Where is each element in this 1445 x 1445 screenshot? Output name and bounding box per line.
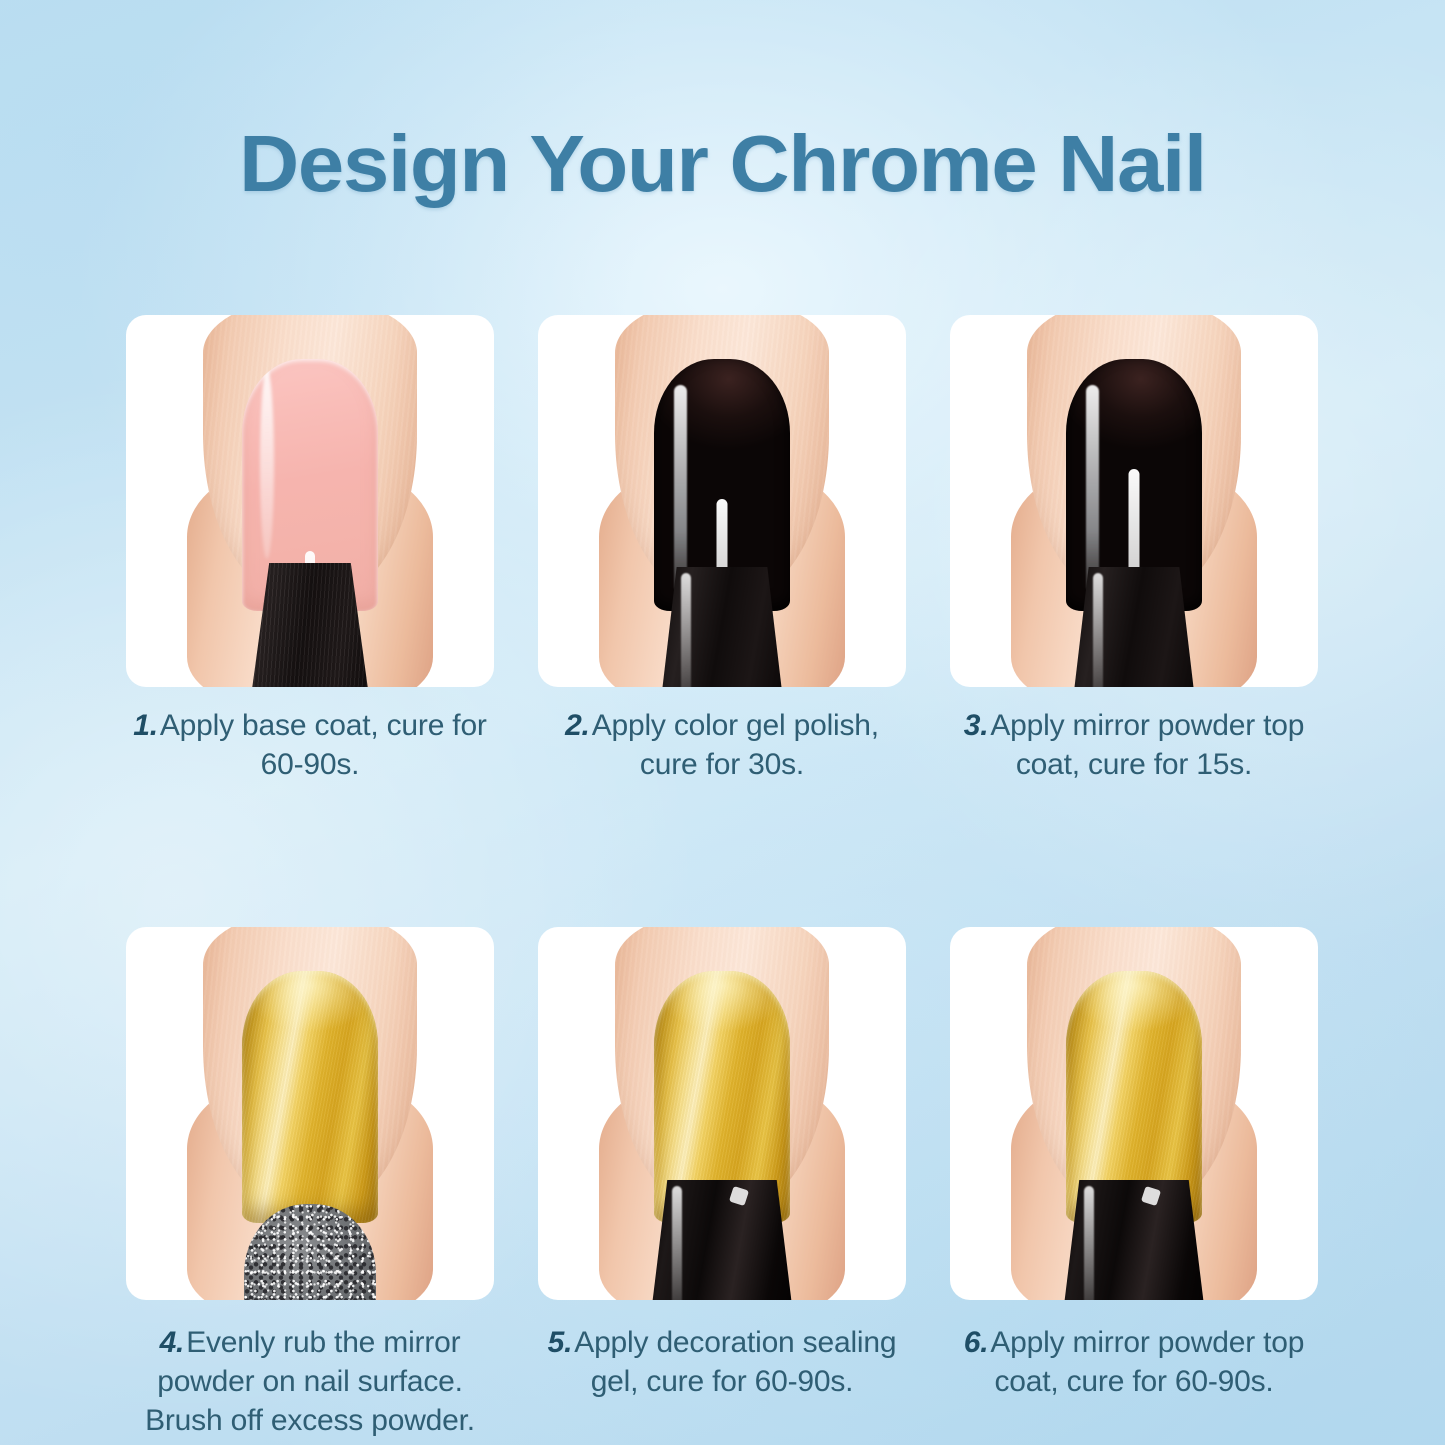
step-image-2	[538, 315, 906, 687]
step-image-6	[950, 927, 1318, 1300]
step-number-6: 6.	[964, 1326, 989, 1359]
nail-highlight-icon	[1129, 469, 1140, 583]
black-brush-icon	[650, 1180, 794, 1300]
black-brush-icon	[1071, 567, 1197, 687]
step-text-4: Evenly rub the mirror powder on nail sur…	[145, 1326, 475, 1437]
step-text-1: Apply base coat, cure for 60-90s.	[160, 709, 487, 781]
step-caption-1: 1.Apply base coat, cure for 60-90s.	[126, 706, 494, 784]
nail-illustration-6	[950, 927, 1318, 1300]
step-number-4: 4.	[160, 1326, 185, 1359]
step-number-2: 2.	[565, 709, 590, 742]
step-image-1	[126, 315, 494, 687]
step-card-2: 2.Apply color gel polish, cure for 30s.	[538, 315, 906, 784]
page-title: Design Your Chrome Nail	[0, 118, 1445, 210]
step-card-4: 4.Evenly rub the mirror powder on nail s…	[126, 927, 494, 1440]
nail-illustration-3	[950, 315, 1318, 687]
brush-gloss-icon	[1093, 573, 1103, 687]
step-card-5: 5.Apply decoration sealing gel, cure for…	[538, 927, 906, 1440]
nail-illustration-4	[126, 927, 494, 1300]
step-number-3: 3.	[964, 709, 989, 742]
step-card-6: 6.Apply mirror powder top coat, cure for…	[950, 927, 1318, 1440]
step-image-5	[538, 927, 906, 1300]
glitter-sponge-icon	[244, 1204, 376, 1300]
step-caption-2: 2.Apply color gel polish, cure for 30s.	[538, 706, 906, 784]
brush-spark-icon	[729, 1186, 749, 1206]
step-image-3	[950, 315, 1318, 687]
steps-grid: 1.Apply base coat, cure for 60-90s. 2.	[126, 315, 1322, 1440]
nail-illustration-1	[126, 315, 494, 687]
brush-gloss-icon	[681, 573, 691, 687]
step-image-4	[126, 927, 494, 1300]
step-text-6: Apply mirror powder top coat, cure for 6…	[990, 1326, 1304, 1398]
step-caption-6: 6.Apply mirror powder top coat, cure for…	[950, 1323, 1318, 1401]
step-card-3: 3.Apply mirror powder top coat, cure for…	[950, 315, 1318, 784]
nail-illustration-2	[538, 315, 906, 687]
step-text-5: Apply decoration sealing gel, cure for 6…	[574, 1326, 896, 1398]
step-text-2: Apply color gel polish, cure for 30s.	[592, 709, 879, 781]
nail-illustration-5	[538, 927, 906, 1300]
step-caption-4: 4.Evenly rub the mirror powder on nail s…	[126, 1323, 494, 1440]
brush-gloss-icon	[1084, 1186, 1094, 1300]
step-number-1: 1.	[133, 709, 158, 742]
black-brush-icon	[1062, 1180, 1206, 1300]
black-brush-icon	[659, 567, 785, 687]
nail-plate-gold-icon	[242, 971, 378, 1223]
step-text-3: Apply mirror powder top coat, cure for 1…	[990, 709, 1304, 781]
brush-gloss-icon	[672, 1186, 682, 1300]
step-card-1: 1.Apply base coat, cure for 60-90s.	[126, 315, 494, 784]
step-caption-3: 3.Apply mirror powder top coat, cure for…	[950, 706, 1318, 784]
page-background: Design Your Chrome Nail 1.Apply base coa…	[0, 0, 1445, 1445]
step-number-5: 5.	[548, 1326, 573, 1359]
step-caption-5: 5.Apply decoration sealing gel, cure for…	[538, 1323, 906, 1401]
brush-spark-icon	[1141, 1186, 1161, 1206]
